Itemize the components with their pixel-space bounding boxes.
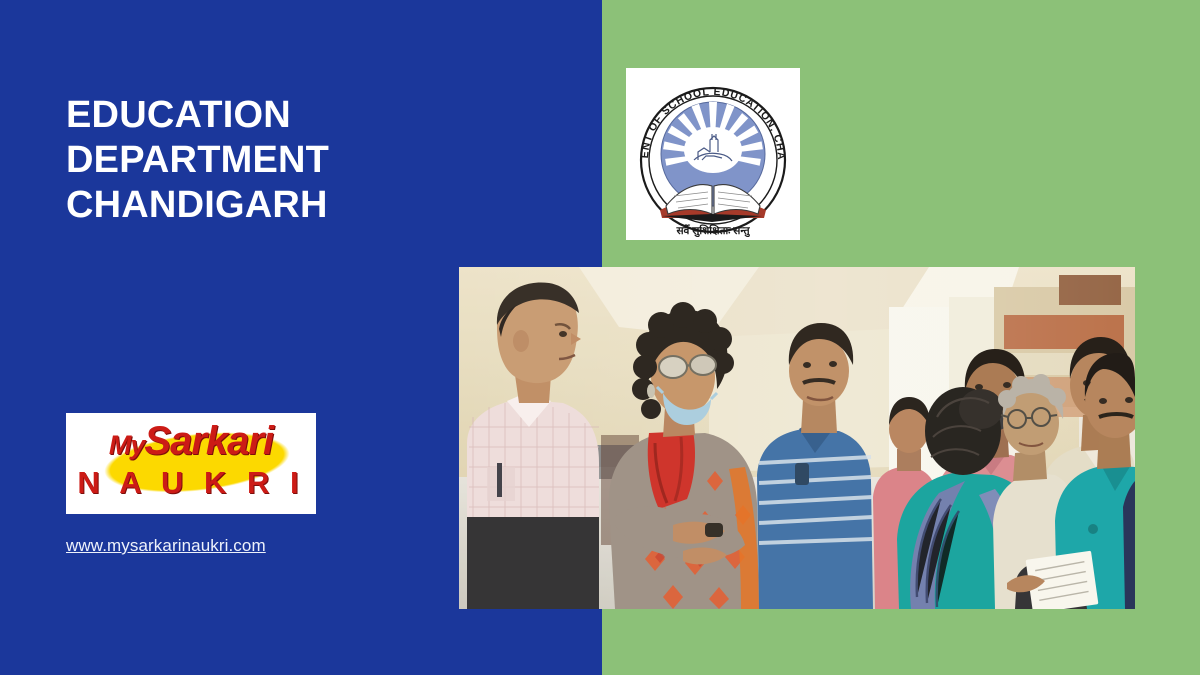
- mysarkarinaukri-logo[interactable]: MySarkari N A U K R I: [66, 413, 316, 514]
- emblem-center-medallion: [684, 127, 742, 173]
- emblem-motto-text: सर्वे सुशिक्षिताः सन्तु: [675, 224, 750, 238]
- department-emblem: DEPARTMENT OF SCHOOL EDUCATION, CHANDIGA…: [626, 68, 800, 240]
- emblem-graphic: DEPARTMENT OF SCHOOL EDUCATION, CHANDIGA…: [626, 68, 800, 240]
- page-title-line-1: EDUCATION: [66, 93, 566, 138]
- logo-word-sarkari: Sarkari: [144, 419, 273, 463]
- page-title-line-2: DEPARTMENT: [66, 138, 566, 183]
- poster-canvas: EDUCATION DEPARTMENT CHANDIGARH MySarkar…: [0, 0, 1200, 675]
- hero-photo: [459, 267, 1135, 609]
- logo-wordmark-line-2: N A U K R I: [66, 465, 316, 501]
- logo-word-my: My: [109, 430, 145, 460]
- logo-wordmark-line-1: MySarkari: [66, 419, 316, 464]
- website-url-link[interactable]: www.mysarkarinaukri.com: [66, 536, 266, 556]
- page-title-line-3: CHANDIGARH: [66, 183, 566, 228]
- hero-photo-graphic: [459, 267, 1135, 609]
- page-title: EDUCATION DEPARTMENT CHANDIGARH: [66, 93, 566, 227]
